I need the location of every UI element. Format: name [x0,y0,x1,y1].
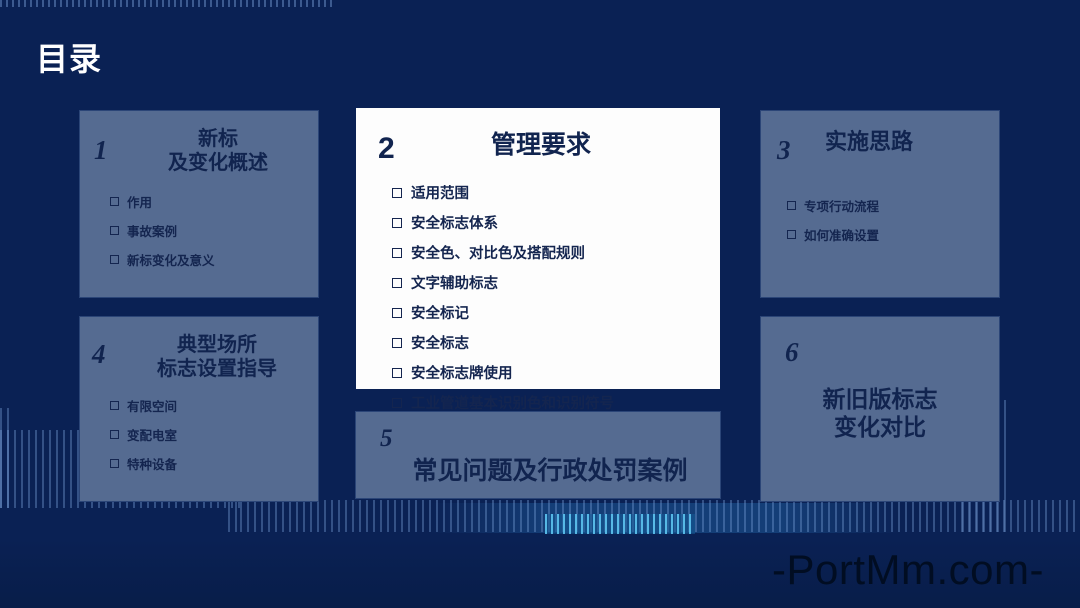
square-bullet-icon [392,308,402,318]
list-item[interactable]: 作用 [110,192,318,211]
stripe-decoration-footer-top [0,0,335,7]
toc-card-5[interactable]: 5 常见问题及行政处罚案例 [355,411,721,499]
card-1-title-line-2: 及变化概述 [140,151,296,175]
square-bullet-icon [787,201,796,210]
list-item[interactable]: 专项行动流程 [787,196,999,215]
bullet-label: 安全色、对比色及搭配规则 [411,242,585,263]
card-5-title: 常见问题及行政处罚案例 [356,456,720,487]
card-6-title-line-1: 新旧版标志 [761,385,999,413]
list-item[interactable]: 事故案例 [110,221,318,240]
card-1-title-line-1: 新标 [140,127,296,151]
list-item[interactable]: 变配电室 [110,425,318,444]
list-item[interactable]: 工业管道基本识别色和识别符号 [392,392,720,413]
bullet-label: 如何准确设置 [804,225,879,244]
card-4-header: 4 典型场所 标志设置指导 [80,317,318,382]
list-item[interactable]: 适用范围 [392,182,720,203]
card-4-number: 4 [92,333,134,368]
watermark-text: -PortMm.com- [772,546,1044,594]
list-item[interactable]: 安全标志 [392,332,720,353]
bullet-label: 工业管道基本识别色和识别符号 [411,392,614,413]
list-item[interactable]: 特种设备 [110,454,318,473]
bullet-label: 事故案例 [127,221,177,240]
list-item[interactable]: 安全标记 [392,302,720,323]
square-bullet-icon [110,401,119,410]
list-item[interactable]: 新标变化及意义 [110,250,318,269]
card-3-title: 实施思路 [825,129,985,156]
card-2-number: 2 [378,130,440,164]
card-3-number: 3 [777,129,825,164]
list-item[interactable]: 如何准确设置 [787,225,999,244]
bullet-label: 变配电室 [127,425,177,444]
square-bullet-icon [392,368,402,378]
bullet-label: 作用 [127,192,152,211]
card-2-title: 管理要求 [440,130,692,161]
square-bullet-icon [392,248,402,258]
bullet-label: 文字辅助标志 [411,272,498,293]
square-bullet-icon [110,197,119,206]
card-2-bullet-list: 适用范围 安全标志体系 安全色、对比色及搭配规则 文字辅助标志 安全标记 安全标… [356,182,720,413]
toc-card-6[interactable]: 6 新旧版标志 变化对比 [760,316,1000,502]
bullet-label: 安全标志牌使用 [411,362,513,383]
square-bullet-icon [110,459,119,468]
bullet-label: 专项行动流程 [804,196,879,215]
square-bullet-icon [392,398,402,408]
stripe-accent-highlight [545,514,695,534]
card-2-header: 2 管理要求 [356,108,720,164]
card-4-bullet-list: 有限空间 变配电室 特种设备 [80,396,318,473]
square-bullet-icon [787,230,796,239]
card-4-title-line-2: 标志设置指导 [134,357,300,381]
card-5-number: 5 [380,426,393,451]
bullet-label: 适用范围 [411,182,469,203]
bullet-label: 安全标志体系 [411,212,498,233]
bullet-label: 安全标志 [411,332,469,353]
toc-card-4[interactable]: 4 典型场所 标志设置指导 有限空间 变配电室 特种设备 [79,316,319,502]
square-bullet-icon [110,430,119,439]
list-item[interactable]: 安全色、对比色及搭配规则 [392,242,720,263]
square-bullet-icon [392,338,402,348]
card-1-title: 新标 及变化概述 [140,127,302,176]
list-item[interactable]: 安全标志牌使用 [392,362,720,383]
square-bullet-icon [392,218,402,228]
list-item[interactable]: 文字辅助标志 [392,272,720,293]
toc-card-3[interactable]: 3 实施思路 专项行动流程 如何准确设置 [760,110,1000,298]
stripe-decoration-left-edge [0,408,12,508]
card-1-number: 1 [94,127,140,164]
square-bullet-icon [110,255,119,264]
card-4-title-line-1: 典型场所 [134,333,300,357]
square-bullet-icon [392,188,402,198]
bullet-label: 特种设备 [127,454,177,473]
card-3-bullet-list: 专项行动流程 如何准确设置 [761,196,999,244]
page-title: 目录 [36,34,102,80]
toc-card-1[interactable]: 1 新标 及变化概述 作用 事故案例 新标变化及意义 [79,110,319,298]
square-bullet-icon [392,278,402,288]
toc-card-2[interactable]: 2 管理要求 适用范围 安全标志体系 安全色、对比色及搭配规则 文字辅助标志 安… [355,107,721,390]
square-bullet-icon [110,226,119,235]
card-1-bullet-list: 作用 事故案例 新标变化及意义 [80,192,318,269]
card-1-header: 1 新标 及变化概述 [80,111,318,176]
bullet-label: 有限空间 [127,396,177,415]
slide-canvas: 目录 1 新标 及变化概述 作用 事故案例 新标变化及意义 2 管理要求 适用范… [0,0,1080,608]
card-6-title-line-2: 变化对比 [761,413,999,441]
bullet-label: 安全标记 [411,302,469,323]
card-6-title: 新旧版标志 变化对比 [761,385,999,441]
bullet-label: 新标变化及意义 [127,250,215,269]
list-item[interactable]: 有限空间 [110,396,318,415]
card-4-title: 典型场所 标志设置指导 [134,333,304,382]
card-6-number: 6 [785,339,799,366]
list-item[interactable]: 安全标志体系 [392,212,720,233]
card-3-header: 3 实施思路 [761,111,999,164]
